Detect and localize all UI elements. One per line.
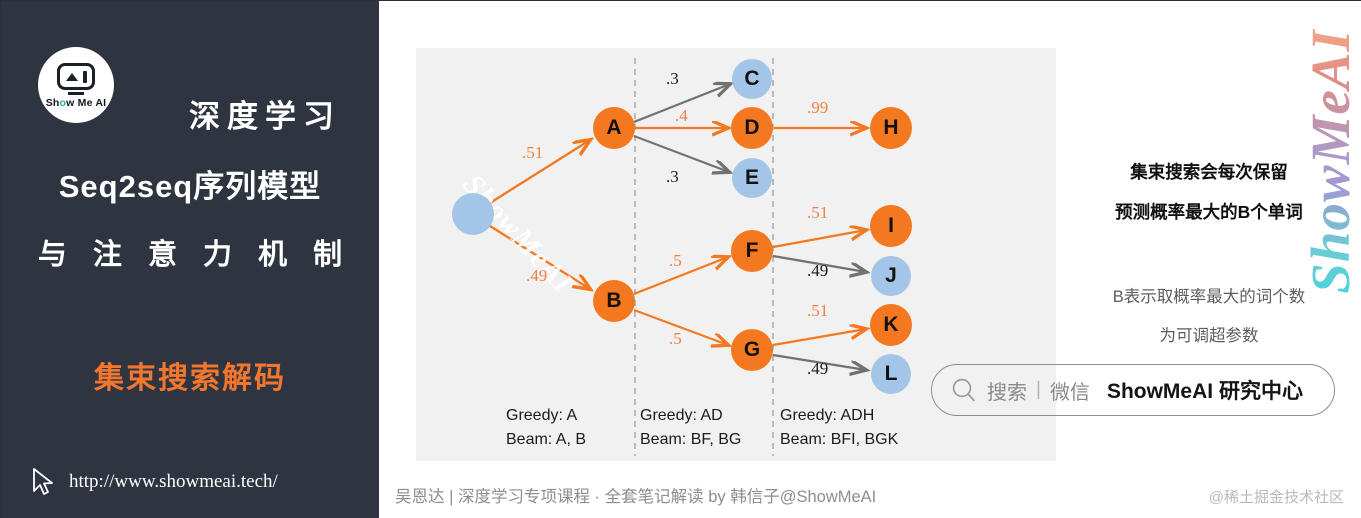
logo-bar-icon (83, 71, 87, 83)
left-sidebar: Show Me AI 深度学习 Seq2seq序列模型 与 注 意 力 机 制 … (1, 1, 379, 518)
caption-greedy-2: Greedy: AD (640, 404, 741, 428)
caption-greedy-1: Greedy: A (506, 404, 586, 428)
edge-label-D-H: .99 (807, 98, 828, 118)
caption-beam-1: Beam: A, B (506, 428, 586, 452)
search-icon (950, 376, 978, 404)
mouse-cursor-icon (31, 467, 57, 497)
edge-label-A-D: .4 (675, 106, 688, 126)
caption-beam-2: Beam: BF, BG (640, 428, 741, 452)
edge-label-root-B: .49 (526, 266, 547, 286)
chevron-up-icon (66, 73, 78, 81)
caption-stage-1: Greedy: A Beam: A, B (506, 404, 586, 452)
graph-node-F[interactable]: F (731, 230, 773, 272)
edge-label-root-A: .51 (522, 143, 543, 163)
caption-greedy-3: Greedy: ADH (780, 404, 898, 428)
caption-beam-3: Beam: BFI, BGK (780, 428, 898, 452)
graph-node-root[interactable] (452, 193, 494, 235)
caption-stage-3: Greedy: ADH Beam: BFI, BGK (780, 404, 898, 452)
footer-credit: 吴恩达 | 深度学习专项课程 · 全套笔记解读 by 韩信子@ShowMeAI (395, 483, 876, 507)
edge-label-F-J: .49 (807, 261, 828, 281)
graph-node-H[interactable]: H (870, 107, 912, 149)
graph-node-J[interactable]: J (871, 256, 911, 296)
edge-label-F-I: .51 (807, 203, 828, 223)
sidebar-site-link[interactable]: http://www.showmeai.tech/ (31, 467, 278, 497)
edge-label-G-L: .49 (807, 359, 828, 379)
sidebar-url-text: http://www.showmeai.tech/ (69, 471, 278, 493)
edge-label-G-K: .51 (807, 301, 828, 321)
main-content: ShowMeAI A B C D E F G H I J K L .51 .49… (379, 1, 1361, 518)
robot-face-icon (57, 63, 95, 90)
note-light-line-1: B表示取概率最大的词个数 (1069, 283, 1349, 307)
note-light-line-2: 为可调超参数 (1069, 322, 1349, 346)
notes-column: 集束搜索会每次保留 预测概率最大的B个单词 B表示取概率最大的词个数 为可调超参… (1069, 51, 1349, 381)
graph-node-K[interactable]: K (870, 304, 912, 346)
graph-node-B[interactable]: B (593, 280, 635, 322)
edge-label-A-E: .3 (666, 167, 679, 187)
edge-label-B-G: .5 (669, 329, 682, 349)
graph-node-D[interactable]: D (731, 107, 773, 149)
search-separator: | (1036, 379, 1041, 401)
sidebar-topic-highlight: 集束搜索解码 (1, 353, 379, 397)
sidebar-title-line-2: Seq2seq序列模型 (1, 161, 379, 206)
note-bold-line-2: 预测概率最大的B个单词 (1069, 199, 1349, 224)
graph-node-C[interactable]: C (732, 59, 772, 99)
sidebar-title-line-1: 深度学习 (1, 91, 379, 136)
search-label: 搜索 (987, 376, 1027, 405)
graph-node-G[interactable]: G (731, 329, 773, 371)
search-brand-name: ShowMeAI 研究中心 (1107, 375, 1303, 405)
graph-node-E[interactable]: E (732, 158, 772, 198)
footer-source: @稀土掘金技术社区 (1209, 486, 1344, 507)
graph-node-I[interactable]: I (870, 205, 912, 247)
graph-node-A[interactable]: A (593, 107, 635, 149)
wechat-search-badge[interactable]: 搜索 | 微信 ShowMeAI 研究中心 (931, 364, 1335, 416)
caption-stage-2: Greedy: AD Beam: BF, BG (640, 404, 741, 452)
edge-label-B-F: .5 (669, 251, 682, 271)
graph-node-L[interactable]: L (871, 354, 911, 394)
note-bold-line-1: 集束搜索会每次保留 (1069, 159, 1349, 184)
sidebar-title-line-3: 与 注 意 力 机 制 (1, 231, 379, 273)
search-channel: 微信 (1050, 376, 1090, 405)
edge-label-A-C: .3 (666, 69, 679, 89)
page-root: Show Me AI 深度学习 Seq2seq序列模型 与 注 意 力 机 制 … (0, 0, 1361, 518)
